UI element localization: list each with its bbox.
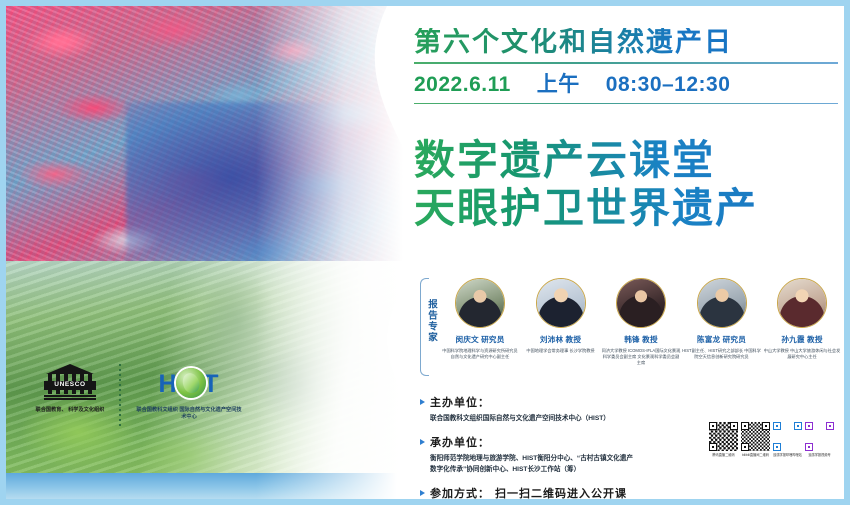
- avatar: [777, 278, 827, 328]
- qr-code-caption: bilibili直播间二维码: [742, 453, 769, 457]
- header-rule-bottom: [414, 103, 838, 105]
- speakers-list: 闵庆文 研究员 中国科学院地理科学与资源研究所研究员 自然与文化遗产研究中心副主…: [442, 278, 840, 366]
- unesco-caption: 联合国教育、 科学及文化组织: [34, 407, 106, 414]
- header-block: 第六个文化和自然遗产日 2022 . 6 . 11 上午 08:30–12:30: [414, 28, 838, 108]
- speaker-name: 孙九霞 教授: [781, 334, 822, 345]
- organizer-body: 联合国教科文组织国际自然与文化遗产空间技术中心（HIST）: [430, 413, 710, 425]
- qr-code-image[interactable]: [741, 422, 770, 451]
- qr-code-item[interactable]: 腾讯直播二维码: [709, 422, 738, 457]
- host-body-line-2: 数字化传承”协同创新中心、HIST长沙工作站（筹）: [430, 464, 710, 476]
- logo-divider: [119, 364, 121, 426]
- speaker-affiliation: 中山大学教授 中山大学旅游休闲与社会发展研究中心主任: [762, 348, 842, 361]
- speaker-name: 韩锋 教授: [624, 334, 657, 345]
- bullet-triangle-icon: [420, 439, 425, 445]
- qr-code-caption: 遥感学报哔哩哔哩站: [773, 453, 802, 457]
- qr-code-image[interactable]: [805, 422, 834, 451]
- logo-group: UNESCO 联合国教育、 科学及文化组织 HIST 联合国教科文组织 国际自然…: [34, 364, 244, 434]
- host-label: 承办单位：: [430, 434, 490, 450]
- hist-caption: 联合国教科文组织 国际自然与文化遗产空间技术中心: [134, 407, 244, 422]
- header-date-row: 2022 . 6 . 11 上午 08:30–12:30: [414, 68, 838, 98]
- join-row: 参加方式： 扫一扫二维码进入公开课: [420, 485, 710, 499]
- speaker-card[interactable]: 刘沛林 教授 中国地理学会常务理事 长沙学院教授: [523, 278, 599, 366]
- hist-globe-icon: [176, 368, 206, 398]
- host-row: 承办单位： 衡阳师范学院地理与旅游学院、HIST衡阳分中心、“古村古镇文化遗产 …: [420, 434, 710, 476]
- main-title-line-2: 天眼护卫世界遗产: [414, 184, 838, 232]
- info-block: 主办单位： 联合国教科文组织国际自然与文化遗产空间技术中心（HIST） 承办单位…: [420, 394, 710, 499]
- main-title-block: 数字遗产云课堂 天眼护卫世界遗产: [414, 136, 838, 233]
- speaker-name: 闵庆文 研究员: [455, 334, 504, 345]
- unesco-wordmark: UNESCO: [54, 382, 85, 389]
- organizer-label: 主办单位：: [430, 394, 490, 410]
- header-ampm: 上午: [537, 68, 580, 98]
- bullet-triangle-icon: [420, 490, 425, 496]
- hist-wordmark-icon: HIST: [141, 364, 237, 404]
- avatar: [616, 278, 666, 328]
- qr-code-caption: 腾讯直播二维码: [712, 453, 734, 457]
- host-body-line-1: 衡阳师范学院地理与旅游学院、HIST衡阳分中心、“古村古镇文化遗产: [430, 453, 710, 465]
- speakers-label-group: 报告专家: [412, 278, 438, 376]
- qr-code-strip: 腾讯直播二维码 bilibili直播间二维码 遥感学报哔哩哔哩站: [709, 422, 837, 457]
- imagery-column: UNESCO 联合国教育、 科学及文化组织 HIST 联合国教科文组织 国际自然…: [6, 6, 406, 499]
- hist-logo: HIST 联合国教科文组织 国际自然与文化遗产空间技术中心: [134, 364, 244, 422]
- speaker-name: 刘沛林 教授: [540, 334, 581, 345]
- speaker-name: 陈富龙 研究员: [697, 334, 746, 345]
- bullet-triangle-icon: [420, 399, 425, 405]
- header-time-range: 08:30–12:30: [606, 73, 731, 97]
- water-strip-fade: [256, 473, 406, 499]
- avatar: [455, 278, 505, 328]
- header-rule-top: [414, 62, 838, 64]
- organizer-row: 主办单位： 联合国教科文组织国际自然与文化遗产空间技术中心（HIST）: [420, 394, 710, 425]
- qr-code-item[interactable]: bilibili直播间二维码: [741, 422, 770, 457]
- speakers-section: 报告专家 闵庆文 研究员 中国科学院地理科学与资源研究所研究员 自然与文化遗产研…: [412, 278, 842, 378]
- speaker-card[interactable]: 韩锋 教授 同济大学教授 ICOMOS-IFLA国际文化景观科学委员会副主席 文…: [603, 278, 679, 366]
- content-column: 第六个文化和自然遗产日 2022 . 6 . 11 上午 08:30–12:30…: [406, 6, 844, 499]
- poster-page: UNESCO 联合国教育、 科学及文化组织 HIST 联合国教科文组织 国际自然…: [6, 6, 844, 499]
- qr-code-item[interactable]: 遥感学报哔哩哔哩站: [773, 422, 802, 457]
- speaker-affiliation: HIST副主任、HIST研究之部部长 中国科学院空天信息创新研究院研究员: [682, 348, 762, 361]
- speaker-card[interactable]: 孙九霞 教授 中山大学教授 中山大学旅游休闲与社会发展研究中心主任: [764, 278, 840, 366]
- imagery-right-fade: [256, 6, 406, 499]
- join-value: 扫一扫二维码进入公开课: [495, 485, 627, 499]
- avatar: [536, 278, 586, 328]
- avatar: [697, 278, 747, 328]
- header-title: 第六个文化和自然遗产日: [414, 28, 838, 57]
- unesco-temple-icon: UNESCO: [42, 364, 98, 404]
- speaker-card[interactable]: 闵庆文 研究员 中国科学院地理科学与资源研究所研究员 自然与文化遗产研究中心副主…: [442, 278, 518, 366]
- main-title-line-1: 数字遗产云课堂: [414, 136, 838, 184]
- join-label: 参加方式：: [430, 485, 490, 499]
- qr-code-image[interactable]: [773, 422, 802, 451]
- unesco-logo: UNESCO 联合国教育、 科学及文化组织: [34, 364, 106, 414]
- qr-code-item[interactable]: 遥感学报视频号: [805, 422, 834, 457]
- speakers-label: 报告专家: [413, 299, 437, 343]
- speaker-affiliation: 同济大学教授 ICOMOS-IFLA国际文化景观科学委员会副主席 文化景观科学委…: [601, 348, 681, 367]
- header-year: 2022: [414, 73, 463, 97]
- speaker-affiliation: 中国地理学会常务理事 长沙学院教授: [521, 348, 601, 354]
- poster-root: UNESCO 联合国教育、 科学及文化组织 HIST 联合国教科文组织 国际自然…: [0, 0, 850, 505]
- header-day: 11: [488, 73, 511, 97]
- qr-code-image[interactable]: [709, 422, 738, 451]
- speaker-affiliation: 中国科学院地理科学与资源研究所研究员 自然与文化遗产研究中心副主任: [440, 348, 520, 361]
- qr-code-caption: 遥感学报视频号: [808, 453, 830, 457]
- header-month: 6: [469, 73, 481, 97]
- speaker-card[interactable]: 陈富龙 研究员 HIST副主任、HIST研究之部部长 中国科学院空天信息创新研究…: [684, 278, 760, 366]
